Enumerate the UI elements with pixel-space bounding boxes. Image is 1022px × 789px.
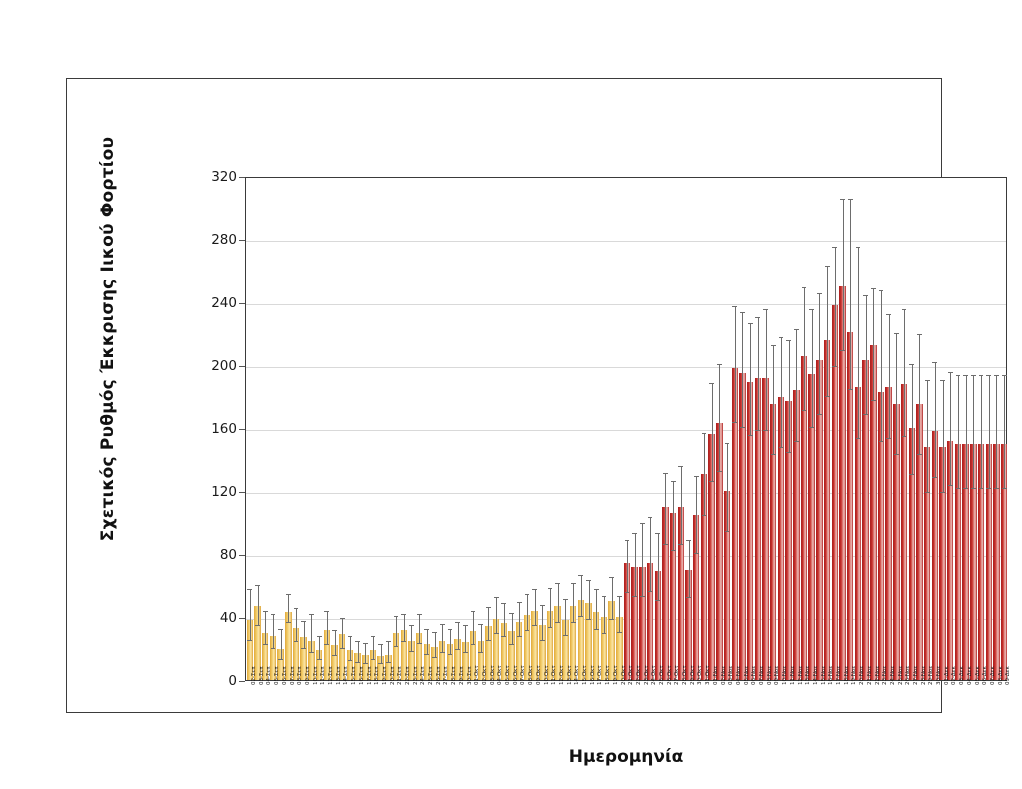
error-bar <box>896 334 897 455</box>
error-bar-cap-lower <box>509 644 514 645</box>
x-tick-label: 05-Σεπ <box>274 667 280 685</box>
x-tick-label: 20-Σεπ <box>390 667 396 685</box>
error-bar-cap-lower <box>740 427 745 428</box>
error-bar-cap-lower <box>856 438 861 439</box>
y-tick-mark <box>239 681 245 682</box>
x-tick-label: 11-Οκτ <box>551 665 557 685</box>
error-bar <box>935 363 936 478</box>
y-tick-label: 280 <box>211 232 237 248</box>
error-bar-cap-upper <box>432 632 437 633</box>
error-bar-cap-upper <box>832 247 837 248</box>
x-tick-label: 05-Οκτ <box>505 665 511 685</box>
error-bar-cap-lower <box>948 485 953 486</box>
x-tick-label: 24-Οκτ <box>651 665 657 685</box>
error-bar-cap-upper <box>509 613 514 614</box>
error-bar-cap-upper <box>663 473 668 474</box>
error-bar-cap-lower <box>702 515 707 516</box>
error-bar <box>258 586 259 627</box>
error-bar <box>943 381 944 493</box>
error-bar-cap-upper <box>771 345 776 346</box>
x-tick-label: 27-Οκτ <box>674 665 680 685</box>
error-bar-cap-upper <box>794 329 799 330</box>
x-tick-label: 23-Νοε <box>882 666 888 685</box>
error-bar-cap-lower <box>563 635 568 636</box>
error-bar <box>265 612 266 645</box>
error-bar <box>966 376 967 489</box>
x-tick-label: 23-Σεπ <box>413 667 419 685</box>
error-bar-cap-lower <box>825 396 830 397</box>
error-bar-cap-upper <box>732 306 737 307</box>
x-tick-label: 17-Οκτ <box>597 665 603 685</box>
error-bar <box>304 622 305 649</box>
x-tick-label: 29-Οκτ <box>690 665 696 685</box>
x-tick-label: 30-Σεπ <box>467 667 473 685</box>
error-bar <box>650 518 651 592</box>
error-bar <box>589 581 590 620</box>
error-bar-cap-upper <box>963 375 968 376</box>
chart-figure: Σχετικός Ρυθμός Έκκρισης Ιικού Φορτίου 0… <box>0 0 1022 789</box>
error-bar-cap-upper <box>578 575 583 576</box>
x-tick-label: 02-Οκτ <box>482 665 488 685</box>
error-bar-cap-upper <box>278 629 283 630</box>
error-bar <box>796 330 797 442</box>
x-tick-label: 06-Δεκ <box>982 666 988 685</box>
y-tick-label: 40 <box>220 610 237 626</box>
error-bar-cap-upper <box>263 611 268 612</box>
error-bar-cap-lower <box>278 659 283 660</box>
error-bar-cap-upper <box>925 380 930 381</box>
error-bar-cap-lower <box>455 649 460 650</box>
error-bar-cap-upper <box>802 287 807 288</box>
error-bar-cap-upper <box>694 476 699 477</box>
error-bar-cap-upper <box>324 611 329 612</box>
error-bar-cap-upper <box>332 630 337 631</box>
error-bar-cap-upper <box>748 323 753 324</box>
error-bar-cap-upper <box>478 624 483 625</box>
error-bar-cap-upper <box>856 247 861 248</box>
error-bar <box>281 630 282 660</box>
error-bar-cap-upper <box>532 589 537 590</box>
x-tick-label: 29-Νοε <box>928 666 934 685</box>
error-bar-cap-upper <box>678 466 683 467</box>
error-bar-cap-lower <box>525 630 530 631</box>
error-bar <box>542 606 543 641</box>
y-tick-label: 200 <box>211 358 237 374</box>
error-bar <box>681 467 682 544</box>
error-bar-cap-lower <box>540 640 545 641</box>
error-bar <box>311 615 312 653</box>
x-tick-label: 11-Νοε <box>790 666 796 685</box>
error-bar-cap-upper <box>779 337 784 338</box>
error-bar-cap-upper <box>740 312 745 313</box>
error-bar <box>488 608 489 641</box>
error-bar-cap-lower <box>617 632 622 633</box>
x-tick-label: 06-Σεπ <box>282 667 288 685</box>
error-bar-cap-lower <box>417 643 422 644</box>
error-bar-cap-upper <box>686 540 691 541</box>
x-tick-label: 03-Σεπ <box>259 667 265 685</box>
error-bar <box>850 200 851 391</box>
error-bar-cap-lower <box>709 481 714 482</box>
x-tick-label: 08-Σεπ <box>297 667 303 685</box>
error-bar-cap-lower <box>378 663 383 664</box>
error-bar-cap-lower <box>655 600 660 601</box>
error-bar-cap-upper <box>917 334 922 335</box>
error-bar <box>427 630 428 655</box>
error-bar <box>1004 376 1005 489</box>
error-bar <box>858 248 859 439</box>
error-bar <box>435 633 436 658</box>
x-tick-label: 04-Δεκ <box>967 666 973 685</box>
error-bar-cap-upper <box>763 309 768 310</box>
x-tick-label: 21-Νοε <box>867 666 873 685</box>
error-bar <box>512 614 513 646</box>
error-bar-cap-lower <box>586 619 591 620</box>
error-bar-cap-lower <box>894 454 899 455</box>
error-bar-cap-upper <box>317 636 322 637</box>
error-bar-cap-lower <box>332 655 337 656</box>
error-bar <box>358 642 359 662</box>
x-tick-label: 16-Οκτ <box>590 665 596 685</box>
y-tick-label: 80 <box>220 547 237 563</box>
error-bar-cap-lower <box>386 662 391 663</box>
x-tick-label: 22-Σεπ <box>405 667 411 685</box>
x-tick-label: 17-Σεπ <box>367 667 373 685</box>
error-bar-cap-upper <box>563 599 568 600</box>
error-bar-cap-upper <box>786 340 791 341</box>
error-bar-cap-lower <box>809 427 814 428</box>
error-bar <box>781 338 782 448</box>
error-bar-cap-lower <box>1002 488 1007 489</box>
error-bar <box>712 384 713 482</box>
error-bar-cap-upper <box>525 594 530 595</box>
x-tick-label: 15-Σεπ <box>351 667 357 685</box>
x-tick-label: 02-Σεπ <box>251 667 257 685</box>
error-bar-cap-upper <box>548 588 553 589</box>
x-axis-tick-labels: 02-Σεπ03-Σεπ04-Σεπ05-Σεπ06-Σεπ07-Σεπ08-Σ… <box>245 683 1007 741</box>
x-tick-label: 18-Οκτ <box>605 665 611 685</box>
error-bar-cap-lower <box>786 452 791 453</box>
error-bar-cap-upper <box>540 605 545 606</box>
x-tick-label: 15-Οκτ <box>582 665 588 685</box>
error-bar-cap-lower <box>986 488 991 489</box>
x-tick-label: 13-Σεπ <box>336 667 342 685</box>
x-tick-label: 28-Σεπ <box>451 667 457 685</box>
y-tick-label: 320 <box>211 169 237 185</box>
x-tick-label: 04-Οκτ <box>497 665 503 685</box>
x-tick-label: 03-Νοε <box>728 666 734 685</box>
error-bar <box>404 615 405 642</box>
error-bar <box>658 534 659 602</box>
error-bar-cap-lower <box>609 619 614 620</box>
error-bar-cap-lower <box>463 652 468 653</box>
error-bar-cap-lower <box>671 550 676 551</box>
error-bar-cap-lower <box>725 531 730 532</box>
error-bar <box>327 612 328 645</box>
error-bar-cap-upper <box>1002 375 1007 376</box>
error-bar-cap-upper <box>948 372 953 373</box>
error-bar-cap-lower <box>255 625 260 626</box>
error-bar-cap-upper <box>348 636 353 637</box>
x-tick-label: 26-Οκτ <box>667 665 673 685</box>
error-bar-cap-lower <box>663 544 668 545</box>
error-bar-cap-upper <box>755 317 760 318</box>
error-bar-cap-upper <box>486 607 491 608</box>
error-bar-cap-upper <box>956 375 961 376</box>
error-bar-cap-upper <box>602 596 607 597</box>
x-tick-label: 02-Δεκ <box>951 666 957 685</box>
error-bar-cap-lower <box>902 436 907 437</box>
error-bar <box>288 595 289 623</box>
x-tick-label: 15-Νοε <box>821 666 827 685</box>
error-bar-cap-lower <box>340 648 345 649</box>
error-bar-cap-lower <box>324 644 329 645</box>
error-bar-cap-lower <box>294 641 299 642</box>
error-bar-cap-upper <box>725 443 730 444</box>
error-bar <box>812 310 813 428</box>
error-bar <box>642 524 643 596</box>
error-bar-cap-lower <box>317 659 322 660</box>
error-bar-cap-upper <box>301 621 306 622</box>
error-bar <box>912 365 913 475</box>
error-bar-cap-upper <box>247 589 252 590</box>
x-tick-label: 12-Σεπ <box>328 667 334 685</box>
error-bar <box>396 617 397 647</box>
error-bar-cap-lower <box>448 654 453 655</box>
error-bar-cap-lower <box>956 488 961 489</box>
error-bar-cap-upper <box>825 266 830 267</box>
x-tick-label: 05-Νοε <box>744 666 750 685</box>
error-bar-cap-lower <box>478 652 483 653</box>
error-bar <box>465 626 466 653</box>
x-tick-label: 25-Οκτ <box>659 665 665 685</box>
error-bar-cap-lower <box>686 597 691 598</box>
x-tick-label: 18-Σεπ <box>374 667 380 685</box>
error-bar-cap-upper <box>840 199 845 200</box>
x-tick-label: 01-Δεκ <box>944 666 950 685</box>
error-bar-cap-upper <box>940 380 945 381</box>
x-tick-label: 01-Οκτ <box>474 665 480 685</box>
error-bar <box>873 289 874 401</box>
error-bar <box>950 373 951 486</box>
error-bar-cap-upper <box>609 577 614 578</box>
error-bar <box>419 615 420 643</box>
error-bar <box>835 248 836 366</box>
error-bar <box>742 313 743 428</box>
error-bar-cap-lower <box>648 591 653 592</box>
error-bar-cap-upper <box>378 644 383 645</box>
error-bar <box>450 630 451 655</box>
x-tick-label: 30-Νοε <box>936 666 942 685</box>
error-bar-cap-upper <box>871 288 876 289</box>
error-bar-cap-upper <box>455 622 460 623</box>
error-bar-cap-lower <box>571 622 576 623</box>
error-bar-cap-upper <box>471 611 476 612</box>
error-bar-cap-upper <box>809 309 814 310</box>
figure-frame: Σχετικός Ρυθμός Έκκρισης Ιικού Φορτίου 0… <box>66 78 942 713</box>
error-bar <box>673 482 674 551</box>
error-bar-cap-lower <box>501 636 506 637</box>
error-bar-cap-lower <box>863 414 868 415</box>
error-bar-cap-lower <box>494 633 499 634</box>
error-bar-cap-lower <box>440 652 445 653</box>
x-tick-label: 22-Νοε <box>875 666 881 685</box>
y-tick-label: 120 <box>211 484 237 500</box>
error-bar <box>996 376 997 489</box>
error-bar-cap-upper <box>971 375 976 376</box>
error-bar <box>773 346 774 455</box>
error-bar-cap-lower <box>940 492 945 493</box>
error-bar <box>665 474 666 545</box>
error-bar <box>381 645 382 664</box>
error-bar <box>973 376 974 489</box>
error-bar-cap-upper <box>617 596 622 597</box>
error-bar-cap-lower <box>925 492 930 493</box>
error-bar-cap-lower <box>763 430 768 431</box>
error-bar <box>927 381 928 493</box>
error-bar <box>388 642 389 662</box>
error-bar-cap-upper <box>309 614 314 615</box>
error-bar <box>919 335 920 455</box>
error-bar-cap-upper <box>255 585 260 586</box>
error-bar-cap-lower <box>594 629 599 630</box>
x-tick-label: 27-Νοε <box>913 666 919 685</box>
error-bar-cap-lower <box>602 633 607 634</box>
x-tick-label: 09-Οκτ <box>536 665 542 685</box>
error-bar <box>527 595 528 631</box>
error-bar-cap-lower <box>371 659 376 660</box>
error-bar-cap-lower <box>517 636 522 637</box>
error-bar-cap-lower <box>840 350 845 351</box>
error-bar <box>365 644 366 664</box>
error-bar-cap-lower <box>771 454 776 455</box>
error-bar-cap-lower <box>632 596 637 597</box>
error-bar <box>604 597 605 635</box>
error-bar <box>335 631 336 656</box>
error-bar <box>719 365 720 472</box>
error-bar <box>981 376 982 489</box>
error-bar-cap-upper <box>594 589 599 590</box>
error-bar <box>704 434 705 516</box>
error-bar <box>565 600 566 636</box>
error-bar <box>581 576 582 617</box>
y-tick-label: 0 <box>228 673 237 689</box>
x-tick-label: 03-Δεκ <box>959 666 965 685</box>
x-tick-label: 14-Σεπ <box>343 667 349 685</box>
x-tick-label: 24-Νοε <box>890 666 896 685</box>
error-bar <box>766 310 767 431</box>
error-bar-cap-lower <box>748 435 753 436</box>
error-bar-cap-lower <box>409 651 414 652</box>
error-bar-cap-upper <box>817 293 822 294</box>
x-tick-label: 25-Νοε <box>898 666 904 685</box>
error-bar-cap-upper <box>932 362 937 363</box>
error-bar-cap-lower <box>917 454 922 455</box>
x-tick-label: 06-Νοε <box>751 666 757 685</box>
error-bar-cap-upper <box>448 629 453 630</box>
error-bar <box>504 604 505 637</box>
error-bar <box>342 619 343 649</box>
x-tick-label: 20-Οκτ <box>621 665 627 685</box>
error-bar-cap-upper <box>986 375 991 376</box>
error-bar-cap-upper <box>286 594 291 595</box>
error-bar-cap-lower <box>401 641 406 642</box>
error-bar-cap-lower <box>779 447 784 448</box>
error-bar-cap-lower <box>909 474 914 475</box>
error-bar <box>750 324 751 436</box>
error-bar <box>904 310 905 438</box>
error-bar <box>789 341 790 453</box>
error-bar-cap-upper <box>494 597 499 598</box>
error-bar-cap-upper <box>671 481 676 482</box>
x-tick-label: 25-Σεπ <box>428 667 434 685</box>
x-tick-label: 08-Οκτ <box>528 665 534 685</box>
x-axis-title: Ημερομηνία <box>245 747 1007 767</box>
error-bar-cap-lower <box>871 400 876 401</box>
x-tick-label: 28-Νοε <box>921 666 927 685</box>
error-bar-cap-lower <box>394 646 399 647</box>
error-bar-cap-upper <box>517 602 522 603</box>
x-tick-label: 13-Νοε <box>805 666 811 685</box>
error-bar <box>758 318 759 431</box>
error-bar <box>573 584 574 623</box>
error-bar-cap-lower <box>802 410 807 411</box>
error-bar-cap-upper <box>640 523 645 524</box>
x-tick-label: 26-Σεπ <box>436 667 442 685</box>
error-bar-cap-upper <box>417 614 422 615</box>
error-bar <box>558 584 559 623</box>
error-bar <box>958 376 959 489</box>
y-tick-label: 240 <box>211 295 237 311</box>
x-tick-label: 28-Οκτ <box>682 665 688 685</box>
error-bar <box>866 296 867 416</box>
error-bar-cap-upper <box>463 625 468 626</box>
error-bar-cap-upper <box>371 636 376 637</box>
error-bar-cap-upper <box>401 614 406 615</box>
error-bar <box>481 625 482 653</box>
error-bar-cap-upper <box>625 540 630 541</box>
y-tick-label: 160 <box>211 421 237 437</box>
error-bar-cap-upper <box>294 608 299 609</box>
error-bar-cap-lower <box>286 622 291 623</box>
x-tick-label: 18-Νοε <box>844 666 850 685</box>
error-bar-cap-lower <box>994 488 999 489</box>
error-bar-cap-lower <box>979 488 984 489</box>
error-bar <box>727 444 728 532</box>
x-tick-label: 13-Οκτ <box>567 665 573 685</box>
error-bar <box>296 609 297 642</box>
x-tick-label: 12-Νοε <box>798 666 804 685</box>
error-bar-cap-lower <box>886 438 891 439</box>
error-bar <box>735 307 736 424</box>
error-bar-cap-lower <box>578 616 583 617</box>
error-bar-cap-upper <box>902 309 907 310</box>
error-bar-cap-upper <box>909 364 914 365</box>
x-tick-label: 14-Οκτ <box>574 665 580 685</box>
error-bar-cap-upper <box>409 625 414 626</box>
x-tick-label: 16-Νοε <box>828 666 834 685</box>
error-bar <box>889 315 890 439</box>
error-bar-cap-lower <box>625 592 630 593</box>
error-bar-cap-lower <box>694 553 699 554</box>
error-bar <box>635 534 636 597</box>
error-bar-cap-lower <box>640 596 645 597</box>
error-bar-cap-upper <box>386 641 391 642</box>
error-bar-cap-lower <box>879 441 884 442</box>
x-tick-label: 05-Δεκ <box>975 666 981 685</box>
error-bar-cap-lower <box>932 477 937 478</box>
x-tick-label: 19-Οκτ <box>613 665 619 685</box>
